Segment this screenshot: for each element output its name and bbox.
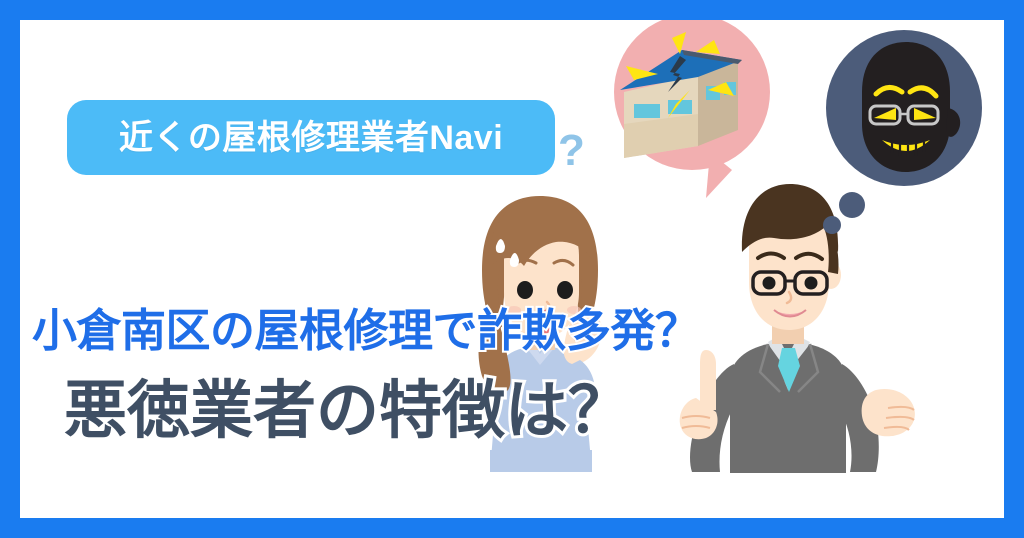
banner-frame: 近くの屋根修理業者Navi ? 小倉南区の屋根修理で詐欺多発？ 悪徳業者の特徴は… xyxy=(0,0,1024,538)
open-hand xyxy=(862,389,915,436)
damaged-house-icon xyxy=(620,32,742,158)
headline-line-1: 小倉南区の屋根修理で詐欺多発？ xyxy=(32,308,700,353)
damaged-house-speech-bubble xyxy=(614,20,770,198)
site-badge[interactable]: 近くの屋根修理業者Navi xyxy=(67,100,555,175)
glasses-icon xyxy=(753,272,827,294)
site-badge-label: 近くの屋根修理業者Navi xyxy=(119,121,503,155)
shady-contractor-thought-bubble xyxy=(823,30,982,234)
sweat-drops xyxy=(496,239,519,267)
question-mark-decoration: ? xyxy=(558,129,585,173)
banner-canvas: 近くの屋根修理業者Navi ? 小倉南区の屋根修理で詐欺多発？ 悪徳業者の特徴は… xyxy=(20,20,1004,518)
headline-line-2: 悪徳業者の特徴は？ xyxy=(64,380,631,443)
pointing-businessman-figure xyxy=(680,184,915,473)
pointing-hand xyxy=(680,350,718,439)
shady-face-icon xyxy=(862,42,960,172)
